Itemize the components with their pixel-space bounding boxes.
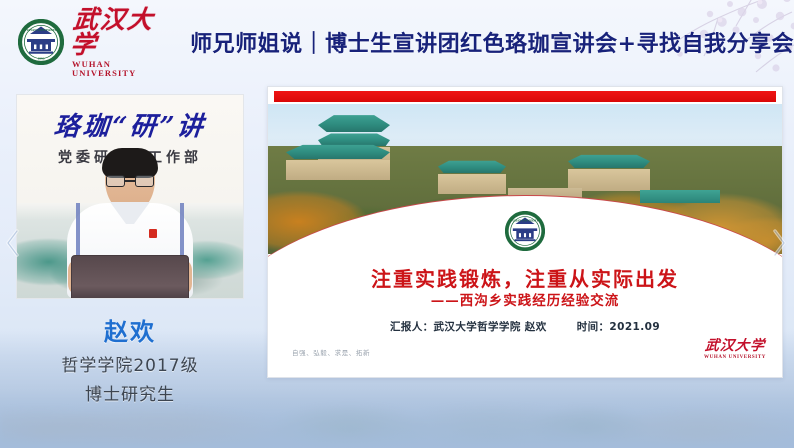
speaker-degree: 博士研究生 bbox=[16, 380, 244, 405]
whu-seal-icon: WUHAN UNIVERSITY bbox=[505, 211, 545, 251]
speaker-hair bbox=[102, 148, 158, 178]
glasses-icon bbox=[106, 175, 154, 187]
page-title: 师兄师姐说｜博士生宣讲团红色珞珈宣讲会+寻找自我分享会 bbox=[190, 26, 794, 58]
speaker-name: 赵欢 bbox=[16, 312, 244, 347]
svg-text:WUHAN UNIVERSITY: WUHAN UNIVERSITY bbox=[510, 219, 542, 223]
slide-subtitle: ——西沟乡实践经历经验交流 bbox=[268, 289, 782, 309]
slide-red-bar bbox=[274, 91, 776, 102]
speaker-caption: 赵欢 哲学学院2017级 博士研究生 bbox=[16, 299, 244, 405]
slide-whu-logo: 武汉大学 WUHAN UNIVERSITY bbox=[704, 339, 766, 360]
speaker-video-feed[interactable]: 珞珈“研”讲 党委研究生工作部 bbox=[16, 94, 244, 299]
slide-presenter: 汇报人：武汉大学哲学学院 赵欢 bbox=[390, 321, 547, 333]
laptop-icon bbox=[71, 255, 189, 299]
speaker-panel: 珞珈“研”讲 党委研究生工作部 赵欢 哲学学院2017级 博士研究生 bbox=[16, 94, 244, 405]
building-east bbox=[568, 154, 650, 191]
slide-date: 时间：2021.09 bbox=[577, 321, 660, 333]
whu-wordmark-cn: 武汉大学 bbox=[69, 7, 170, 57]
broadcast-page: WUHAN UNIVERSITY 1893 武汉大学 WUHAN UNIVERS… bbox=[0, 0, 794, 448]
svg-text:1893: 1893 bbox=[38, 57, 45, 61]
slide-motto: 自强、弘毅、求是、拓新 bbox=[292, 347, 370, 357]
speaker-figure bbox=[66, 148, 194, 298]
svg-text:WUHAN UNIVERSITY: WUHAN UNIVERSITY bbox=[23, 28, 59, 32]
presentation-slide[interactable]: WUHAN UNIVERSITY 注重实践锻炼，注重从实际出发 ——西沟乡实践经… bbox=[267, 86, 783, 378]
whu-seal-icon: WUHAN UNIVERSITY 1893 bbox=[18, 19, 64, 65]
party-badge-icon bbox=[149, 229, 157, 238]
building-lower-east bbox=[640, 190, 720, 203]
building-center bbox=[438, 160, 506, 194]
speaker-collar bbox=[110, 202, 150, 224]
speaker-affiliation: 哲学学院2017级 bbox=[16, 351, 244, 376]
whu-brand-logo: WUHAN UNIVERSITY 1893 武汉大学 WUHAN UNIVERS… bbox=[18, 7, 168, 77]
slide-logo-en: WUHAN UNIVERSITY bbox=[704, 355, 766, 360]
slide-meta: 汇报人：武汉大学哲学学院 赵欢 时间：2021.09 bbox=[268, 319, 782, 334]
slide-logo-cn: 武汉大学 bbox=[704, 339, 765, 353]
whu-wordmark-en: WUHAN UNIVERSITY bbox=[72, 60, 168, 77]
whu-wordmark: 武汉大学 WUHAN UNIVERSITY bbox=[72, 7, 168, 77]
chevron-left-icon[interactable] bbox=[4, 228, 22, 258]
chevron-right-icon[interactable] bbox=[770, 228, 788, 258]
building-west bbox=[286, 144, 390, 180]
backdrop-title: 珞珈“研”讲 bbox=[16, 106, 244, 143]
page-header: WUHAN UNIVERSITY 1893 武汉大学 WUHAN UNIVERS… bbox=[0, 0, 794, 84]
slide-title: 注重实践锻炼，注重从实际出发 bbox=[268, 263, 782, 292]
